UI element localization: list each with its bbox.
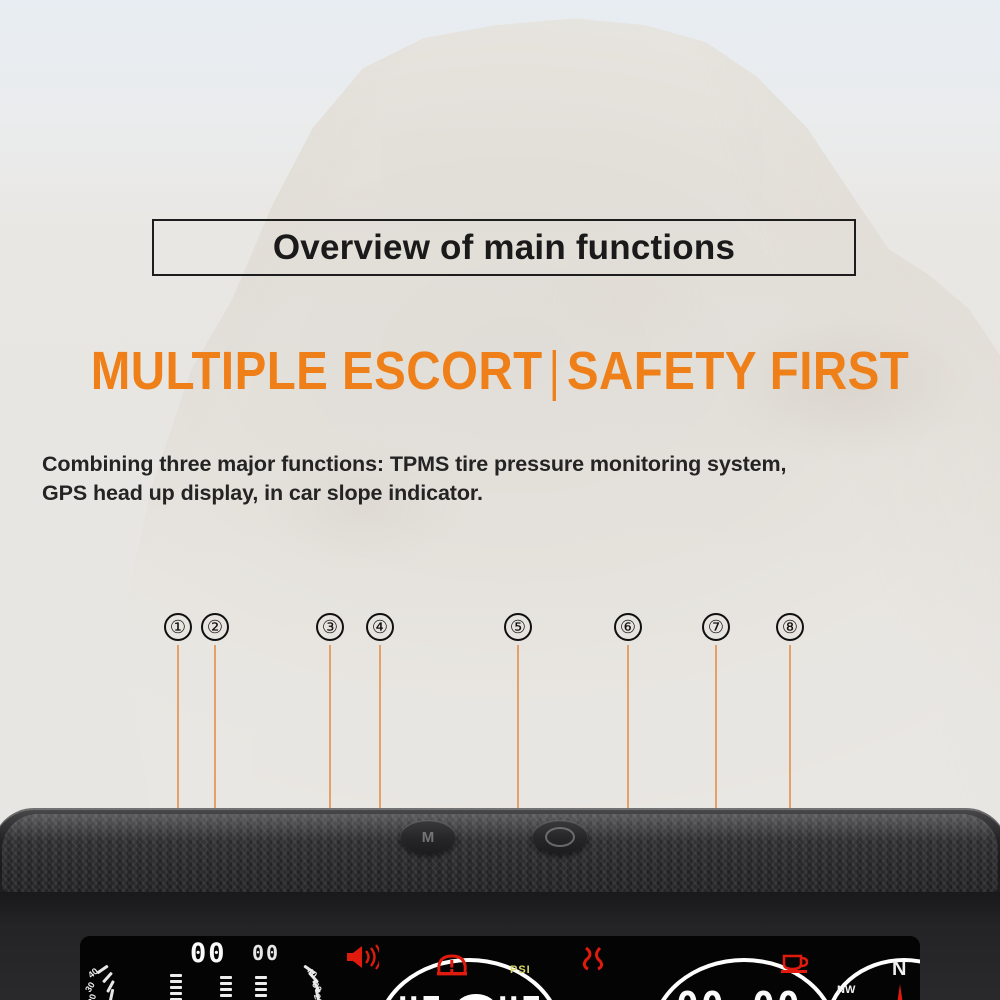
headline-separator: |: [548, 340, 561, 402]
tire-values-left: 00: [676, 984, 726, 1000]
tire-values-right: 00: [752, 984, 802, 1000]
headline: MULTIPLE ESCORT|SAFETY FIRST: [60, 340, 940, 402]
callout-number-5: ⑤: [504, 613, 532, 641]
left-gauge-tick-0: 20: [86, 993, 98, 1000]
power-button[interactable]: [532, 820, 588, 854]
speaker-alarm-icon: [345, 944, 379, 970]
left-gauge-tick-2: 40: [86, 966, 100, 980]
right-gauge-tick-2: 20: [312, 993, 324, 1000]
power-icon: [545, 827, 575, 847]
psi-label: PSI: [510, 964, 531, 976]
tpms-warning-icon: [435, 952, 469, 978]
speed-digits-left: HF: [398, 990, 443, 1000]
description-paragraph: Combining three major functions: TPMS ti…: [42, 450, 947, 508]
callout-number-6: ⑥: [614, 613, 642, 641]
coffee-fatigue-icon: [780, 948, 810, 974]
callout-number-1: ①: [164, 613, 192, 641]
center-bar-indicator: [220, 976, 232, 1000]
device-carbon-bezel: [2, 814, 998, 892]
lcd-display: 20 30 40 00 00 40 30 20 HF HF: [80, 936, 920, 1000]
left-gauge-tick-1: 30: [83, 980, 97, 994]
description-line-2: GPS head up display, in car slope indica…: [42, 479, 947, 508]
compass-north-label: N: [892, 958, 906, 981]
page-title: Overview of main functions: [273, 228, 735, 268]
tire-pressure-digits: 00: [190, 938, 227, 969]
callout-number-3: ③: [316, 613, 344, 641]
headline-left: MULTIPLE ESCORT: [91, 341, 543, 401]
compass-needle-icon: [890, 984, 910, 1000]
headline-right: SAFETY FIRST: [567, 341, 909, 401]
water-temperature-icon: [580, 944, 608, 972]
speed-digits-right: HF: [498, 990, 543, 1000]
callout-number-7: ⑦: [702, 613, 730, 641]
description-line-1: Combining three major functions: TPMS ti…: [42, 450, 947, 479]
tire-pressure-digits-secondary: 00: [252, 941, 280, 965]
center-bar-indicator-2: [255, 976, 267, 1000]
mode-button[interactable]: M: [400, 820, 456, 854]
callout-number-2: ②: [201, 613, 229, 641]
callout-number-8: ⑧: [776, 613, 804, 641]
section-title-box: Overview of main functions: [152, 219, 856, 276]
mode-button-label: M: [422, 830, 435, 845]
callout-number-4: ④: [366, 613, 394, 641]
left-bar-indicator: [170, 974, 182, 1000]
hud-device: M 20 30 40 00 00 40 30 20: [0, 808, 1000, 1000]
compass-nw-label: NW: [837, 984, 855, 996]
